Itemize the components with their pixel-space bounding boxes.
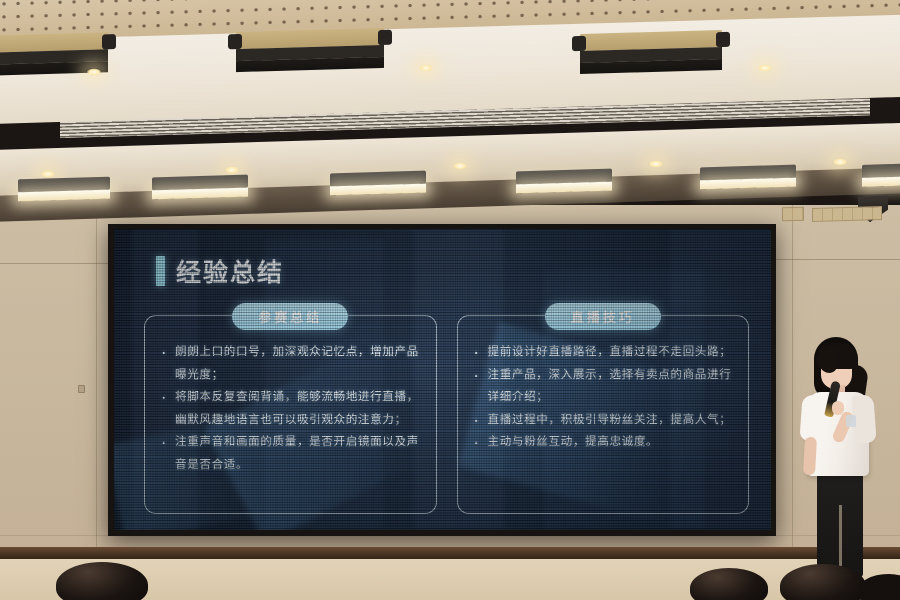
list-item: 直播过程中，积极引导粉丝关注，提高人气； (472, 408, 737, 431)
audience-head (56, 562, 148, 600)
wall-plate (812, 206, 882, 222)
panel-header-pill: 直播技巧 (545, 303, 661, 330)
presenter (790, 337, 886, 577)
list-item: 朗朗上口的口号，加深观众记忆点，增加产品曝光度； (159, 340, 424, 385)
downlight (452, 162, 468, 170)
panel-competition-summary: 参赛总结 朗朗上口的口号，加深观众记忆点，增加产品曝光度； 将脚本反复查阅背诵，… (144, 315, 437, 514)
led-display-screen: 经验总结 参赛总结 朗朗上口的口号，加深观众记忆点，增加产品曝光度； 将脚本反复… (108, 224, 776, 536)
track-light (152, 175, 248, 200)
downlight (418, 64, 434, 72)
list-item: 提前设计好直播路径，直播过程不走回头路； (472, 340, 737, 363)
list-item: 注重声音和画面的质量，是否开启镜面以及声音是否合适。 (159, 430, 424, 475)
track-light (330, 171, 426, 196)
presentation-slide: 经验总结 参赛总结 朗朗上口的口号，加深观众记忆点，增加产品曝光度； 将脚本反复… (114, 229, 771, 530)
downlight (648, 160, 664, 168)
panel-livestream-tips: 直播技巧 提前设计好直播路径，直播过程不走回头路； 注重产品，深入展示，选择有卖… (457, 315, 750, 514)
panel-header-pill: 参赛总结 (232, 303, 348, 330)
track-light (516, 169, 612, 194)
audience-head (690, 568, 768, 600)
downlight (40, 170, 56, 178)
downlight (757, 64, 773, 72)
title-accent-bar (156, 256, 165, 286)
stage-beam-light (580, 30, 722, 74)
list-item: 主动与粉丝互动，提高忠诚度。 (472, 430, 737, 453)
wall-plate (782, 207, 804, 222)
list-item: 将脚本反复查阅背诵，能够流畅地进行直播，幽默风趣地语言也可以吸引观众的注意力； (159, 385, 424, 430)
presenter-shirt-logo (846, 415, 856, 427)
slide-panels: 参赛总结 朗朗上口的口号，加深观众记忆点，增加产品曝光度； 将脚本反复查阅背诵，… (144, 315, 749, 514)
presenter-sleeve-left (799, 394, 823, 441)
track-light (18, 177, 110, 202)
slide-title: 经验总结 (156, 253, 284, 289)
list-item: 注重产品，深入展示，选择有卖点的商品进行详细介绍； (472, 363, 737, 408)
downlight (86, 68, 102, 76)
audience-head (780, 564, 866, 600)
downlight (224, 166, 240, 174)
slide-title-text: 经验总结 (176, 253, 284, 289)
presenter-arm-left (803, 437, 817, 476)
stage-beam-light (236, 28, 384, 72)
downlight (832, 158, 848, 166)
lecture-hall-photo: 经验总结 参赛总结 朗朗上口的口号，加深观众记忆点，增加产品曝光度； 将脚本反复… (0, 0, 900, 600)
presenter-hand (832, 401, 844, 415)
bullet-list: 朗朗上口的口号，加深观众记忆点，增加产品曝光度； 将脚本反复查阅背诵，能够流畅地… (159, 340, 424, 476)
track-light (862, 163, 900, 187)
bullet-list: 提前设计好直播路径，直播过程不走回头路； 注重产品，深入展示，选择有卖点的商品进… (472, 340, 737, 453)
track-light (700, 165, 796, 190)
wall-outlet (78, 385, 85, 393)
